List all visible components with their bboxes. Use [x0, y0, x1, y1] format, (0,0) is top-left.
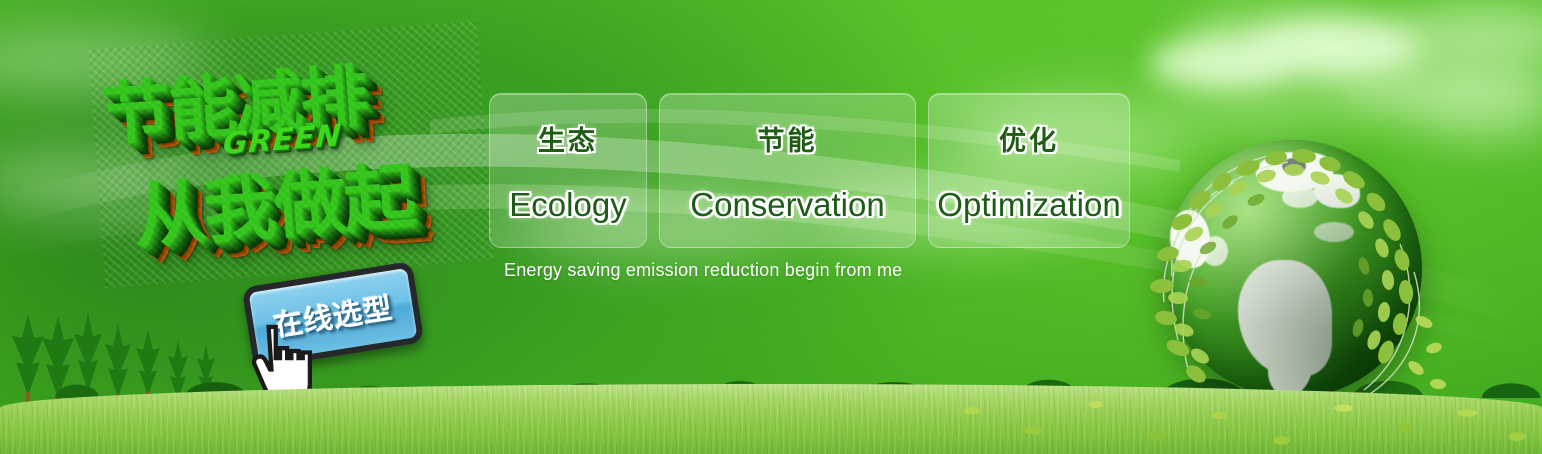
- feature-card-cn-label: 生态: [538, 119, 598, 158]
- feature-card-optimization[interactable]: 优化 Optimization: [928, 93, 1130, 248]
- feature-card-cn-label: 优化: [999, 119, 1059, 158]
- feature-card-conservation[interactable]: 节能 Conservation: [659, 93, 916, 248]
- eco-hero-banner: 节能减排 GREEN 从我做起 在线选型 生态 Ecology 节能 Conse…: [0, 0, 1542, 454]
- tagline: Energy saving emission reduction begin f…: [504, 260, 902, 281]
- headline-3d-art: 节能减排 GREEN 从我做起: [88, 20, 495, 288]
- feature-cards: 生态 Ecology 节能 Conservation 优化 Optimizati…: [489, 93, 1130, 248]
- feature-card-en-label: Optimization: [937, 186, 1120, 224]
- leaf-carpet-icon: [922, 392, 1542, 454]
- feature-card-cn-label: 节能: [758, 119, 818, 158]
- feature-card-ecology[interactable]: 生态 Ecology: [489, 93, 647, 248]
- feature-card-en-label: Conservation: [690, 186, 884, 224]
- feature-card-en-label: Ecology: [509, 186, 626, 224]
